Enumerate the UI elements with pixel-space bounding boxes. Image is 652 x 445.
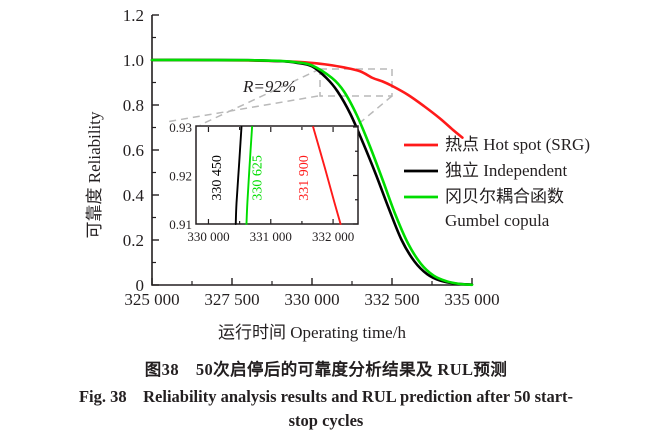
x-axis-tick-labels: 325 000327 500330 000332 500335 000 <box>124 290 499 309</box>
inset-y-tick-label: 0.92 <box>169 169 192 184</box>
x-axis-title: 运行时间 Operating time/h <box>218 323 406 342</box>
x-axis-ticks <box>152 278 472 285</box>
x-tick-label: 327 500 <box>204 290 259 309</box>
caption-english-line2: stop cycles <box>8 409 644 433</box>
figure-caption: 图38 50次启停后的可靠度分析结果及 RUL预测 Fig. 38 Reliab… <box>0 358 652 433</box>
x-tick-label: 332 500 <box>364 290 419 309</box>
x-tick-label: 330 000 <box>284 290 339 309</box>
inset-curve-label: 330 625 <box>250 155 265 201</box>
inset-y-tick-labels: 0.910.920.93 <box>169 120 192 232</box>
legend-label: 独立 Independent <box>445 161 568 180</box>
figure-container: 325 000327 500330 000332 500335 000 00.2… <box>0 0 652 445</box>
legend-label-secondary: Gumbel copula <box>445 211 550 230</box>
y-tick-label: 0.4 <box>123 186 145 205</box>
inset-x-tick-label: 330 000 <box>187 229 229 244</box>
inset-curve-label: 331 900 <box>297 155 312 201</box>
inset-y-tick-label: 0.93 <box>169 120 192 135</box>
inset-x-tick-labels: 330 000331 000332 000 <box>187 229 354 244</box>
y-axis-ticks <box>152 15 159 285</box>
legend-label: 冈贝尔耦合函数 <box>445 187 564 206</box>
zoom-connector-bottom <box>356 96 392 126</box>
x-tick-label: 335 000 <box>444 290 499 309</box>
y-tick-label: 0.8 <box>123 96 144 115</box>
chart-legend: 热点 Hot spot (SRG)独立 Independent冈贝尔耦合函数 G… <box>404 135 590 230</box>
inset-y-tick-label: 0.91 <box>169 217 192 232</box>
inset-x-tick-label: 331 000 <box>250 229 292 244</box>
inset-panel: 330 000331 000332 000 0.910.920.93 330 4… <box>169 120 358 244</box>
legend-label: 热点 Hot spot (SRG) <box>445 135 590 154</box>
y-axis-tick-labels: 00.20.40.60.81.01.2 <box>123 6 145 295</box>
y-tick-label: 1.2 <box>123 6 144 25</box>
y-tick-label: 1.0 <box>123 51 144 70</box>
y-tick-label: 0.2 <box>123 231 144 250</box>
y-tick-label: 0 <box>136 276 145 295</box>
y-axis-title: 可靠度 Reliability <box>85 111 104 239</box>
zoom-connector-left <box>166 96 318 122</box>
reliability-chart: 325 000327 500330 000332 500335 000 00.2… <box>0 0 652 355</box>
inset-curve-label: 330 450 <box>210 155 225 201</box>
x-tick-label: 325 000 <box>124 290 179 309</box>
caption-english-line1: Fig. 38 Reliability analysis results and… <box>8 385 644 409</box>
caption-english: Fig. 38 Reliability analysis results and… <box>0 383 652 433</box>
y-tick-label: 0.6 <box>123 141 144 160</box>
annotation-reliability-92: R=92% <box>242 77 296 96</box>
caption-chinese: 图38 50次启停后的可靠度分析结果及 RUL预测 <box>0 358 652 383</box>
inset-x-tick-label: 332 000 <box>312 229 354 244</box>
